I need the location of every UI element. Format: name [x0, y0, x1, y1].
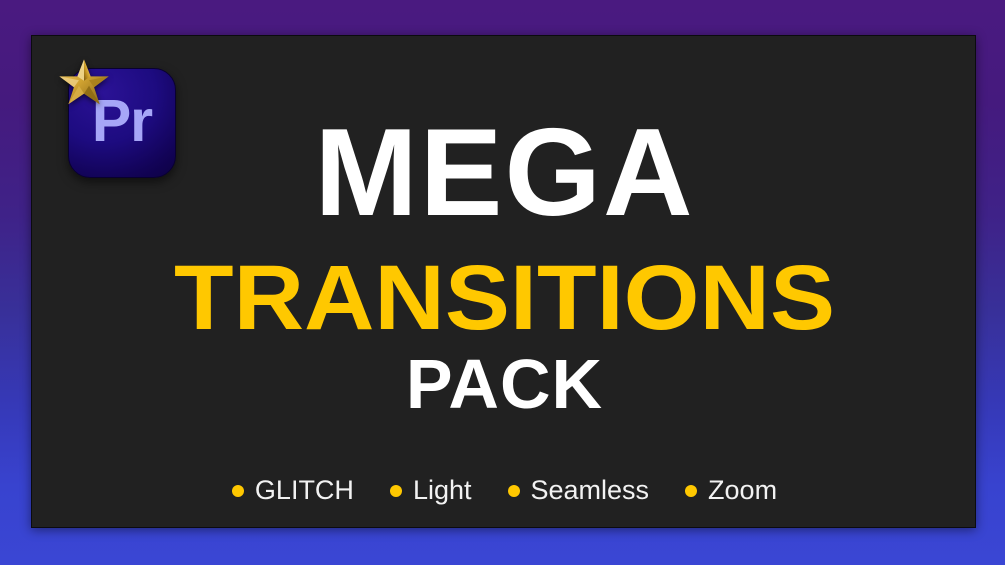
feature-label: GLITCH [255, 477, 354, 504]
feature-label: Zoom [708, 477, 777, 504]
bullet-dot-icon [685, 485, 697, 497]
bullet-dot-icon [390, 485, 402, 497]
gold-star-icon [56, 55, 112, 111]
bullet-dot-icon [508, 485, 520, 497]
feature-label: Seamless [531, 477, 650, 504]
feature-label: Light [413, 477, 472, 504]
thumbnail-card: Pr [31, 35, 976, 528]
feature-item-light: Light [390, 477, 472, 504]
feature-list: GLITCH Light Seamless Zoom [32, 477, 976, 504]
feature-item-zoom: Zoom [685, 477, 777, 504]
feature-item-seamless: Seamless [508, 477, 650, 504]
title-line-mega: MEGA [32, 111, 976, 235]
feature-item-glitch: GLITCH [232, 477, 354, 504]
title-line-transitions: TRANSITIONS [31, 252, 976, 344]
bullet-dot-icon [232, 485, 244, 497]
title-line-pack: PACK [32, 349, 976, 419]
